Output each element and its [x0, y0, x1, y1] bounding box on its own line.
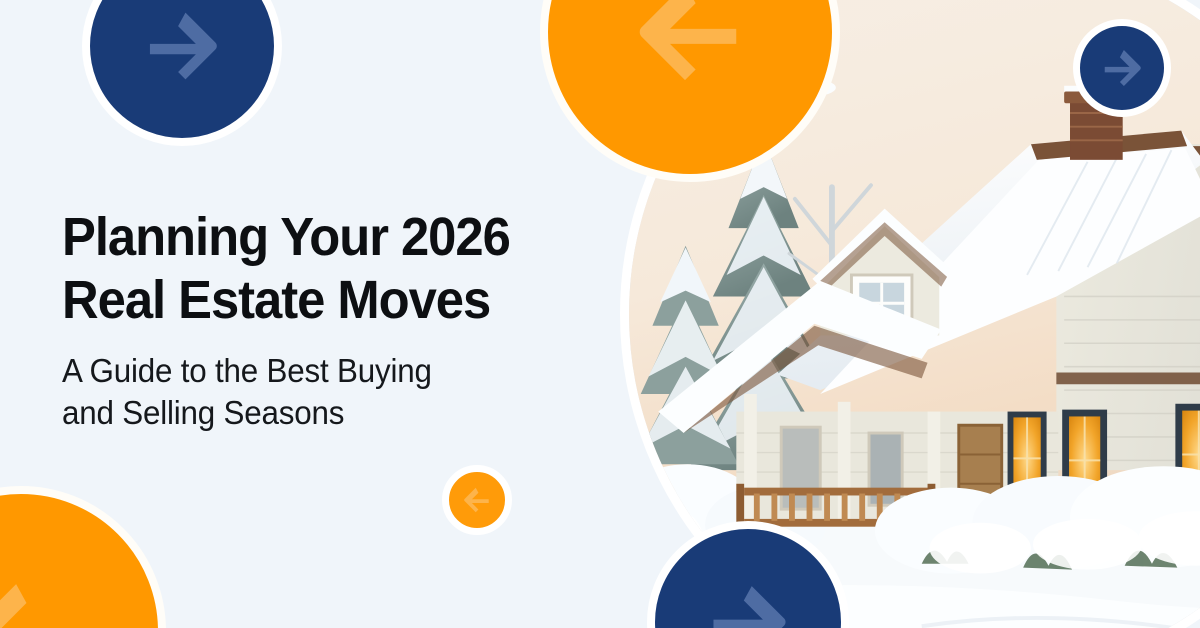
- top-right-navy-circle: [1073, 19, 1171, 117]
- promo-banner: Planning Your 2026 Real Estate Moves A G…: [0, 0, 1200, 628]
- bottom-left-orange-circle: [0, 486, 166, 628]
- arrow-left-icon: [615, 0, 765, 107]
- page-subtitle: A Guide to the Best Buying and Selling S…: [62, 350, 566, 434]
- arrow-right-icon: [130, 0, 234, 98]
- small-orange-circle: [442, 465, 512, 535]
- page-title: Planning Your 2026 Real Estate Moves: [62, 206, 560, 332]
- headline-block: Planning Your 2026 Real Estate Moves A G…: [62, 206, 592, 434]
- arrow-left-icon: [0, 558, 94, 628]
- arrow-right-icon: [1094, 40, 1150, 96]
- arrow-right-icon: [692, 566, 804, 628]
- top-left-navy-circle: [82, 0, 282, 146]
- arrow-left-icon: [458, 481, 496, 519]
